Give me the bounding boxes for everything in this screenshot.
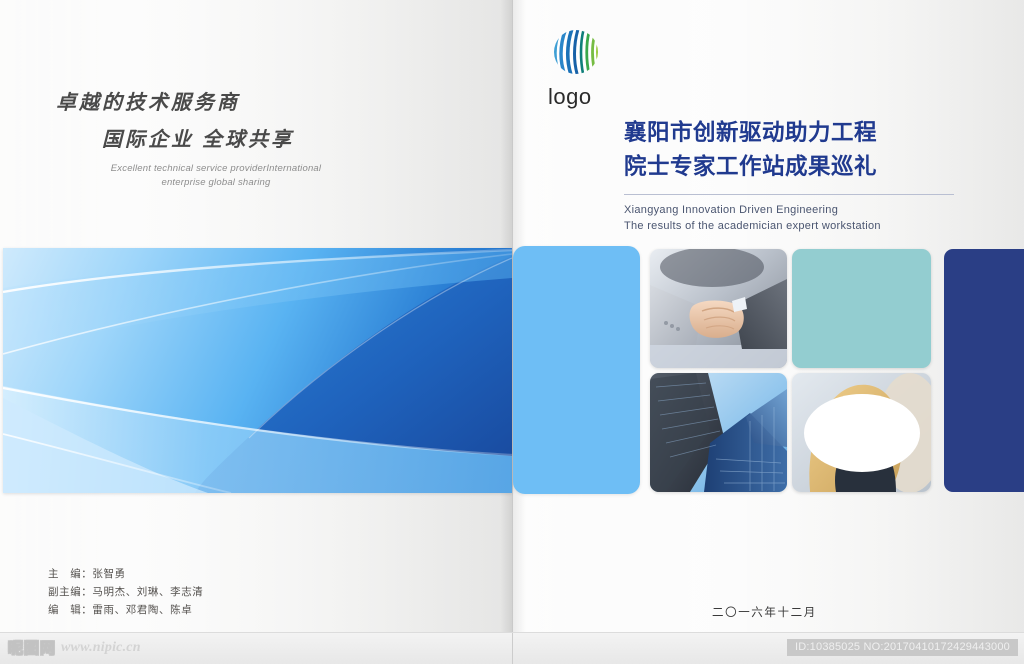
cover-subtitle-english-line-1: Xiangyang Innovation Driven Engineering <box>624 202 964 218</box>
cover-subtitle-english-line-2: The results of the academician expert wo… <box>624 218 964 234</box>
logo-label: logo <box>548 84 658 110</box>
watermark-url[interactable]: www.nipic.cn <box>61 640 141 656</box>
slogan-line-1: 卓越的技术服务商 <box>56 86 386 115</box>
watermark-branding: 昵图网 www.nipic.cn <box>8 637 141 658</box>
portrait-white-oval-overlay <box>804 394 920 472</box>
back-cover-slogan: 卓越的技术服务商 国际企业 全球共享 Excellent technical s… <box>56 86 386 190</box>
teal-color-block-tile <box>792 249 931 368</box>
slogan-english-line-1: Excellent technical service providerInte… <box>66 162 366 176</box>
cover-title-line-1: 襄阳市创新驱动助力工程 <box>624 116 964 150</box>
asset-id-badge: ID:10385025 NO:20170410172429443000 <box>787 639 1018 656</box>
handshake-photo-tile <box>650 249 787 368</box>
portrait-photo-tile <box>792 373 931 492</box>
cover-publication-date: 二〇一六年十二月 <box>712 604 817 620</box>
cover-logo: logo <box>548 26 658 110</box>
footer-divider <box>512 633 513 664</box>
credit-editors: 编 辑：雷雨、邓君陶、陈卓 <box>48 602 203 620</box>
globe-stripes-logo-icon <box>548 26 604 82</box>
navy-edge-bar <box>944 249 1024 492</box>
brochure-spread-canvas: 卓越的技术服务商 国际企业 全球共享 Excellent technical s… <box>0 0 1024 664</box>
title-divider-rule <box>624 194 954 195</box>
editorial-credits: 主 编：张智勇 副主编：马明杰、刘琳、李志清 编 辑：雷雨、邓君陶、陈卓 <box>48 566 203 620</box>
stock-site-footer: 昵图网 www.nipic.cn ID:10385025 NO:20170410… <box>0 632 1024 664</box>
slogan-english: Excellent technical service providerInte… <box>66 162 366 190</box>
slogan-english-line-2: enterprise global sharing <box>66 176 366 190</box>
abstract-blue-wave-graphic <box>3 248 512 493</box>
credit-chief-editor: 主 编：张智勇 <box>48 566 203 584</box>
nipic-logo-icon: 昵图网 <box>8 637 56 658</box>
credit-deputy-editors: 副主编：马明杰、刘琳、李志清 <box>48 584 203 602</box>
cover-title-line-2: 院士专家工作站成果巡礼 <box>624 150 964 184</box>
skyscrapers-photo-tile <box>650 373 787 492</box>
cover-title-block: 襄阳市创新驱动助力工程 院士专家工作站成果巡礼 Xiangyang Innova… <box>624 116 964 234</box>
spine-color-block <box>513 246 640 494</box>
slogan-line-2: 国际企业 全球共享 <box>102 123 386 152</box>
